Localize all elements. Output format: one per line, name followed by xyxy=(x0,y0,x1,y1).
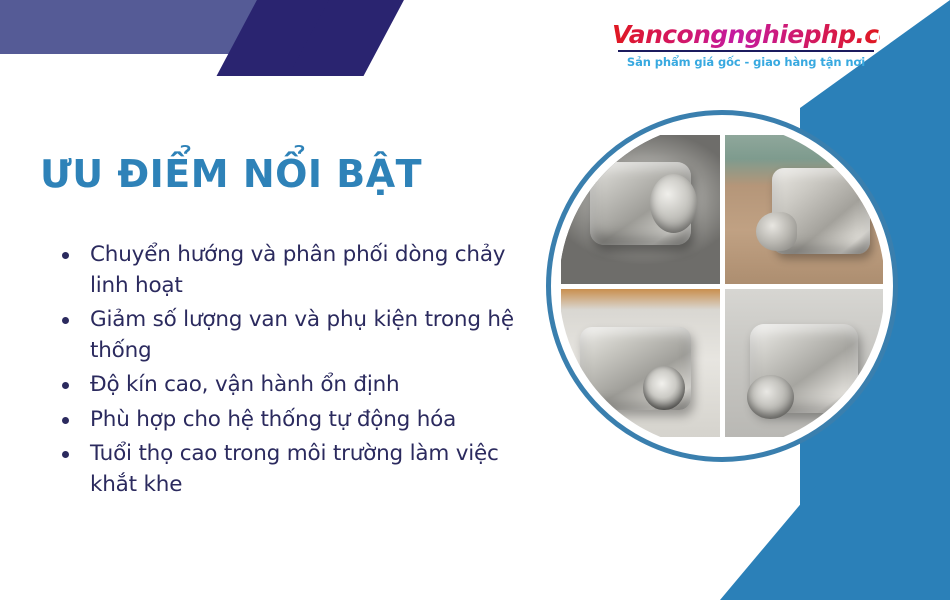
product-photo-3 xyxy=(561,289,720,438)
list-item: Phù hợp cho hệ thống tự động hóa xyxy=(48,405,538,436)
list-item: Giảm số lượng van và phụ kiện trong hệ t… xyxy=(48,305,538,366)
collage-grid xyxy=(561,135,883,437)
product-photo-collage xyxy=(546,110,898,462)
product-photo-2 xyxy=(725,135,884,284)
decor-bottom-blue-wedge xyxy=(720,485,950,600)
page-title: ƯU ĐIỂM NỔI BẬT xyxy=(40,152,422,196)
brand-tagline: Sản phẩm giá gốc - giao hàng tận nơi xyxy=(612,55,880,69)
collage-mask xyxy=(559,123,885,449)
list-item: Độ kín cao, vận hành ổn định xyxy=(48,370,538,401)
benefits-list: Chuyển hướng và phân phối dòng chảy linh… xyxy=(48,240,538,504)
brand-divider xyxy=(618,50,874,52)
list-item: Chuyển hướng và phân phối dòng chảy linh… xyxy=(48,240,538,301)
product-photo-4 xyxy=(725,289,884,438)
brand-name: Vancongnghiephp.com xyxy=(612,22,880,48)
slide-canvas: Vancongnghiephp.com Sản phẩm giá gốc - g… xyxy=(0,0,950,600)
brand-logo: Vancongnghiephp.com Sản phẩm giá gốc - g… xyxy=(612,22,880,69)
list-item: Tuổi thọ cao trong môi trường làm việc k… xyxy=(48,439,538,500)
product-photo-1 xyxy=(561,135,720,284)
